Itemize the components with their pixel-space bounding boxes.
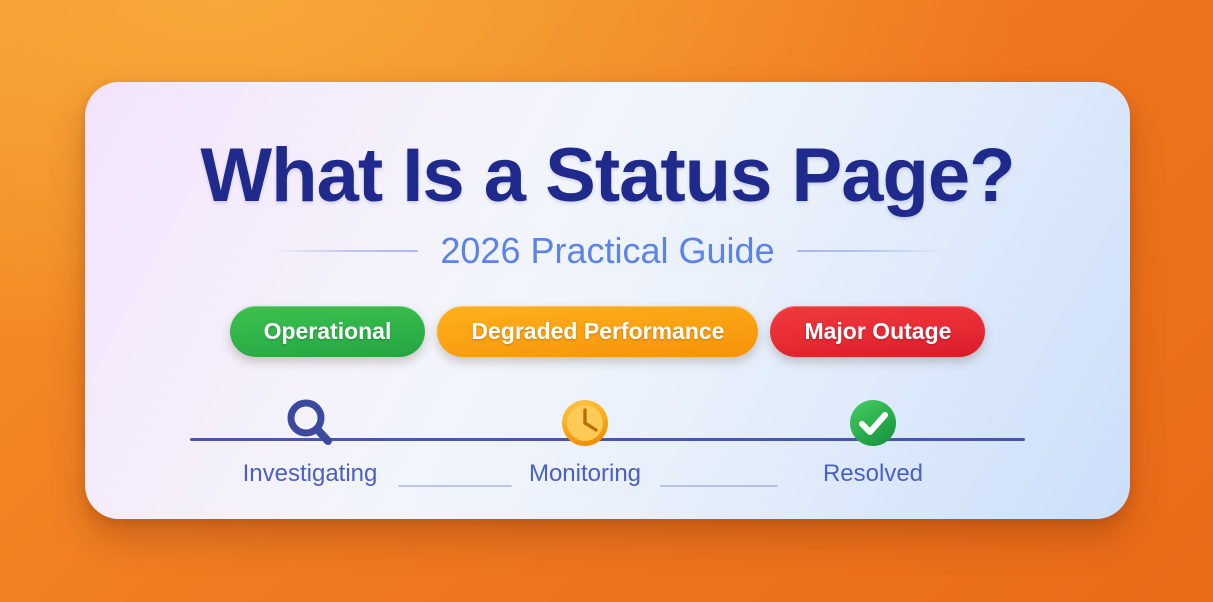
- timeline-label-rule-2: [660, 485, 778, 487]
- check-circle-icon: [847, 392, 899, 454]
- poster-canvas: What Is a Status Page? 2026 Practical Gu…: [0, 0, 1213, 602]
- timeline-stage-label-monitoring: Monitoring: [529, 460, 641, 488]
- incident-timeline: Investigating: [190, 392, 1025, 492]
- timeline-stage-label-resolved: Resolved: [823, 460, 923, 488]
- status-badge-major-outage[interactable]: Major Outage: [770, 306, 985, 357]
- timeline-stage-investigating[interactable]: Investigating: [250, 392, 370, 492]
- clock-icon: [559, 392, 611, 454]
- magnifier-icon: [281, 392, 339, 454]
- page-title: What Is a Status Page?: [85, 132, 1130, 219]
- status-badge-degraded-performance[interactable]: Degraded Performance: [437, 306, 758, 357]
- timeline-stage-resolved[interactable]: Resolved: [813, 392, 933, 492]
- page-subtitle: 2026 Practical Guide: [440, 230, 774, 272]
- timeline-label-rule-1: [398, 485, 512, 487]
- timeline-stage-label-investigating: Investigating: [243, 460, 378, 488]
- subtitle-rule-left: [270, 250, 418, 252]
- status-page-card: What Is a Status Page? 2026 Practical Gu…: [85, 82, 1130, 519]
- subtitle-rule-right: [797, 250, 945, 252]
- status-pill-row: Operational Degraded Performance Major O…: [85, 306, 1130, 357]
- subtitle-row: 2026 Practical Guide: [85, 230, 1130, 272]
- timeline-stage-monitoring[interactable]: Monitoring: [525, 392, 645, 492]
- status-badge-operational[interactable]: Operational: [230, 306, 426, 357]
